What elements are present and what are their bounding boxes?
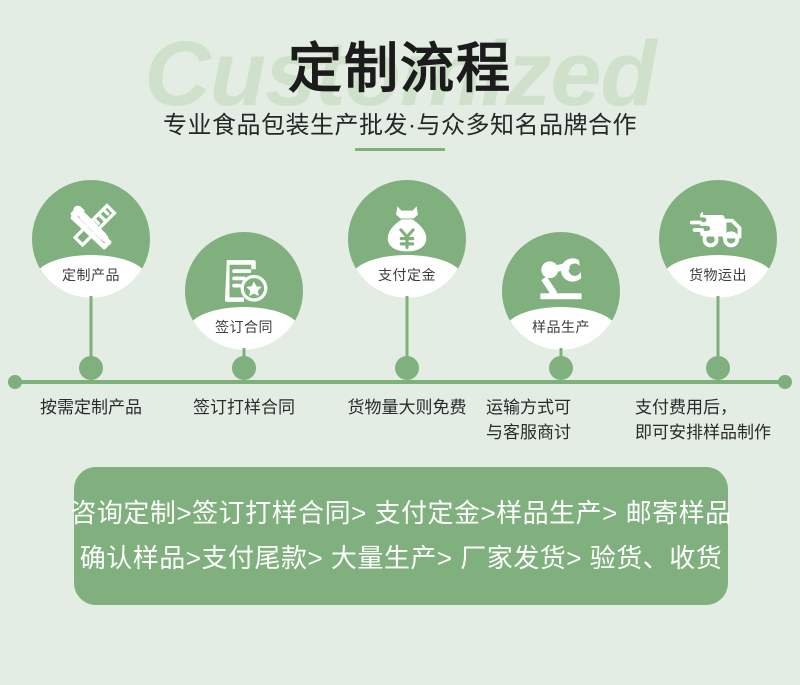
timeline-step-3[interactable]: 支付定金 货物量大则免费 — [327, 170, 487, 450]
process-timeline: 定制产品 按需定制产品 — [0, 170, 800, 450]
contract-star-icon — [185, 246, 303, 316]
step-bubble[interactable]: 支付定金 — [348, 180, 466, 298]
step-pill: 签订合同 — [188, 307, 300, 350]
step-pill: 支付定金 — [351, 255, 463, 298]
flow-line-2: 确认样品>支付尾款> 大量生产> 厂家发货> 验货、收货 — [80, 536, 722, 582]
step-caption: 签订打样合同 — [154, 396, 334, 421]
step-caption: 运输方式可 与客服商讨 — [486, 396, 636, 445]
robot-arm-icon — [502, 246, 620, 316]
timeline-step-1[interactable]: 定制产品 按需定制产品 — [11, 170, 171, 450]
step-pill-label: 签订合同 — [215, 317, 273, 337]
page-subtitle: 专业食品包装生产批发·与众多知名品牌合作 — [0, 112, 800, 141]
page-title: 定制流程 — [0, 38, 800, 100]
timeline-step-2[interactable]: 签订合同 签订打样合同 — [164, 170, 324, 450]
step-bubble[interactable]: 样品生产 — [502, 232, 620, 350]
timeline-step-4[interactable]: 样品生产 运输方式可 与客服商讨 — [481, 170, 641, 450]
money-bag-yen-icon — [348, 194, 466, 264]
step-caption: 货物量大则免费 — [317, 396, 497, 421]
title-divider — [355, 148, 445, 151]
step-caption: 支付费用后， 即可安排样品制作 — [635, 396, 800, 445]
step-pill-label: 支付定金 — [378, 265, 436, 285]
step-pill-label: 样品生产 — [532, 317, 590, 337]
step-pill: 样品生产 — [505, 307, 617, 350]
step-node-dot[interactable] — [395, 356, 419, 380]
step-node-dot[interactable] — [549, 356, 573, 380]
step-bubble[interactable]: 定制产品 — [32, 180, 150, 298]
step-pill: 货物运出 — [662, 255, 774, 298]
page-header: Customized 定制流程 专业食品包装生产批发·与众多知名品牌合作 — [0, 0, 800, 172]
step-node-dot[interactable] — [79, 356, 103, 380]
step-node-dot[interactable] — [706, 356, 730, 380]
step-node-dot[interactable] — [232, 356, 256, 380]
step-bubble[interactable]: 货物运出 — [659, 180, 777, 298]
step-pill: 定制产品 — [35, 255, 147, 298]
timeline-step-5[interactable]: 货物运出 支付费用后， 即可安排样品制作 — [638, 170, 798, 450]
step-pill-label: 定制产品 — [62, 265, 120, 285]
page-root: Customized 定制流程 专业食品包装生产批发·与众多知名品牌合作 — [0, 0, 800, 685]
step-bubble[interactable]: 签订合同 — [185, 232, 303, 350]
delivery-truck-icon — [659, 194, 777, 264]
flow-line-1: 咨询定制>签订打样合同> 支付定金>样品生产> 邮寄样品 — [70, 491, 731, 537]
process-flow-box: 咨询定制>签订打样合同> 支付定金>样品生产> 邮寄样品 确认样品>支付尾款> … — [74, 467, 728, 605]
step-pill-label: 货物运出 — [689, 265, 747, 285]
ruler-pencil-icon — [32, 194, 150, 264]
